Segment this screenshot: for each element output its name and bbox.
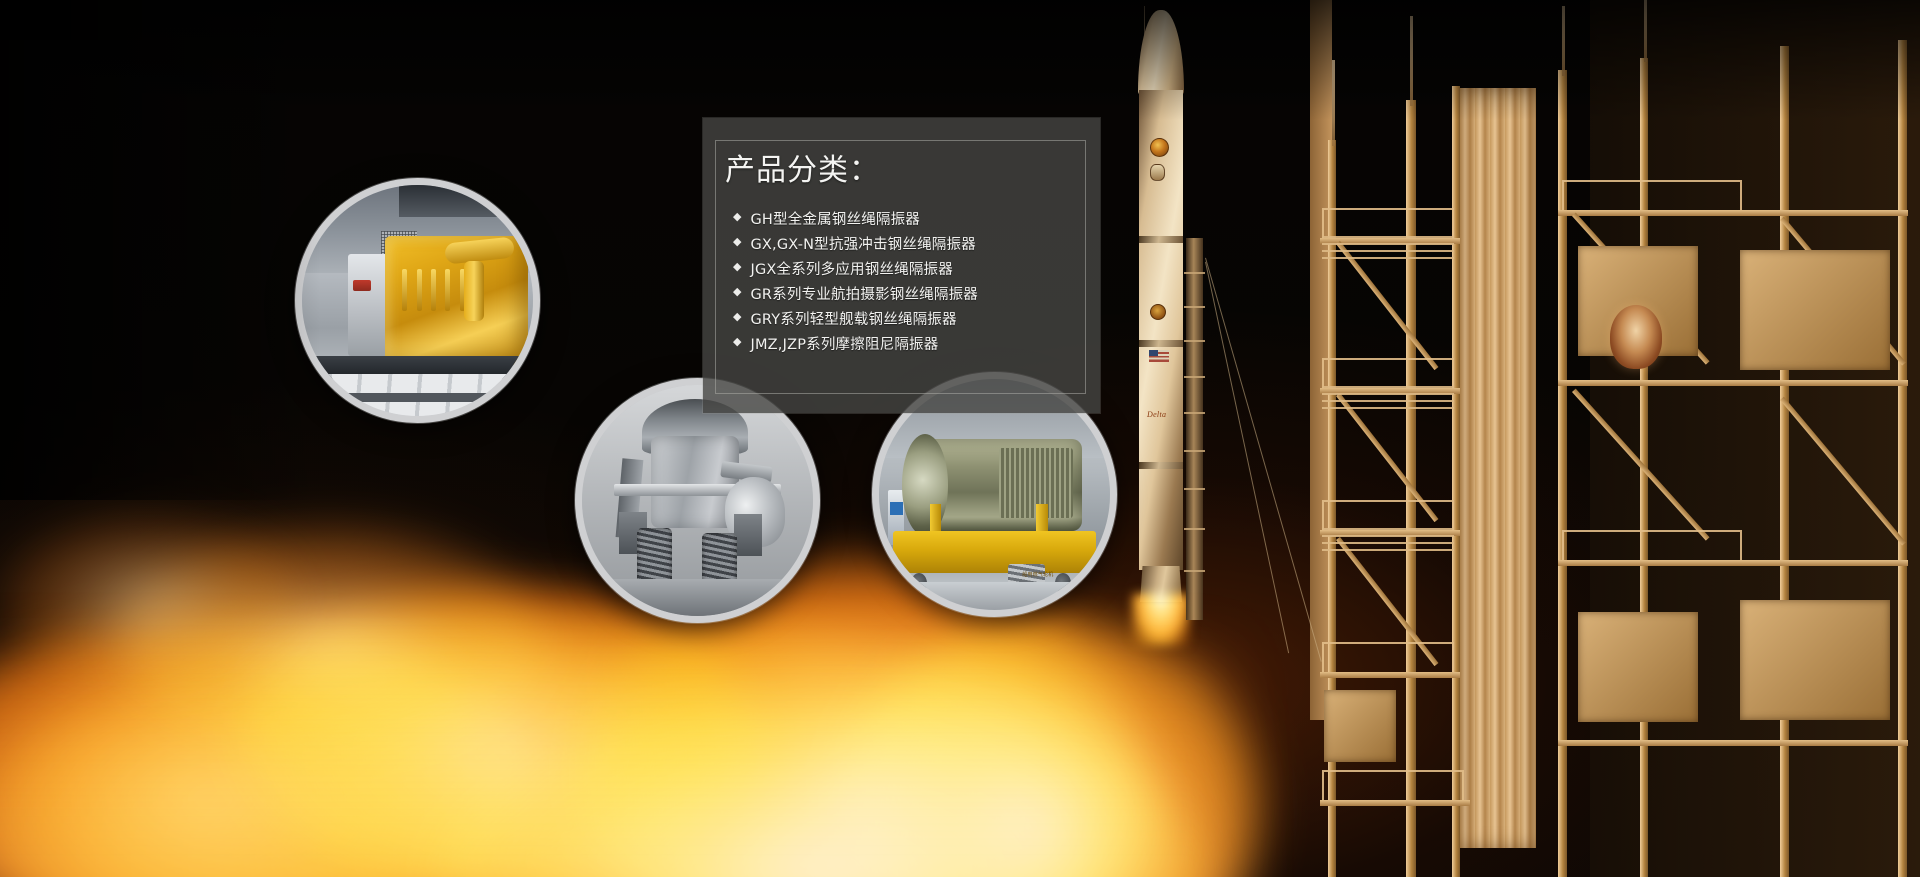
wire-rope-isolator-image (582, 385, 813, 616)
diamond-bullet-icon: ◆ (733, 287, 741, 298)
tower-column (1780, 46, 1789, 877)
rocket-nose-cone (1138, 10, 1184, 96)
panel-title: 产品分类： (725, 145, 880, 189)
rocket-band (1139, 462, 1183, 469)
list-item-label: JGX全系列多应用钢丝绳隔振器 (750, 258, 952, 279)
list-item-label: GRY系列轻型舰载钢丝绳隔振器 (750, 308, 956, 329)
tower-platform-railing (1322, 358, 1454, 388)
wire-rope-coil (637, 528, 672, 583)
umbilical-rung (1184, 450, 1205, 452)
isolator-right-foot (734, 514, 762, 556)
tower-mast (1410, 16, 1413, 106)
umbilical-rung (1184, 272, 1205, 274)
tower-platform-railing (1322, 642, 1454, 672)
tower-platform-railing (1562, 180, 1742, 210)
list-item-label: GR系列专业航拍摄影钢丝绳隔振器 (750, 283, 978, 304)
tower-platform-railing (1562, 530, 1742, 560)
tower-grating (1322, 386, 1454, 410)
tower-beam (1558, 740, 1908, 746)
tower-cladding-panel (1460, 88, 1536, 848)
engine-cylinder (417, 269, 422, 310)
product-category-list: ◆ GH型全金属钢丝绳隔振器 ◆ GX,GX-N型抗强冲击钢丝绳隔振器 ◆ JG… (733, 206, 1084, 356)
generator-room-ceiling (399, 185, 533, 217)
generator-floor-shadow (302, 393, 533, 402)
rocket-band (1139, 340, 1183, 347)
tower-mast (1332, 60, 1335, 146)
tower-grating (1322, 528, 1454, 552)
photo-circle-diesel-generator[interactable] (295, 178, 540, 423)
tower-platform-railing (1322, 500, 1454, 530)
list-item-label: GX,GX-N型抗强冲击钢丝绳隔振器 (750, 233, 975, 254)
tower-equipment-box (1324, 690, 1396, 762)
list-item[interactable]: ◆ GH型全金属钢丝绳隔振器 (733, 206, 1084, 231)
umbilical-rung (1184, 340, 1205, 342)
umbilical-rung (1184, 376, 1205, 378)
isolator-base-plate (600, 579, 794, 616)
list-item-label: GH型全金属钢丝绳隔振器 (750, 208, 920, 229)
engine-cylinder (445, 269, 450, 310)
tower-beam (1558, 380, 1908, 386)
diamond-bullet-icon: ◆ (733, 237, 741, 248)
engine-exhaust-riser (464, 261, 485, 321)
umbilical-rung (1184, 570, 1205, 572)
umbilical-rung (1184, 528, 1205, 530)
tower-column (1898, 40, 1907, 877)
tower-column (1452, 86, 1460, 877)
turbine-caption-label: 船用燃气轮机 (1022, 571, 1053, 578)
list-item[interactable]: ◆ GX,GX-N型抗强冲击钢丝绳隔振器 (733, 231, 1084, 256)
diesel-generator-image (302, 185, 533, 416)
tower-beam (1558, 210, 1908, 216)
tower-brace (1336, 241, 1438, 370)
rocket-agency-logo-icon (1150, 164, 1165, 181)
tower-platform-railing (1322, 208, 1454, 238)
photo-circle-wire-rope-isolator[interactable] (575, 378, 820, 623)
rocket-name-label: Delta (1147, 410, 1166, 419)
rocket-mission-patch-icon (1150, 304, 1166, 320)
tower-equipment-box (1578, 612, 1698, 722)
umbilical-mast (1186, 238, 1203, 620)
tower-beam (1320, 672, 1460, 678)
diamond-bullet-icon: ◆ (733, 212, 741, 223)
tower-logo-emblem (1610, 305, 1662, 369)
list-item[interactable]: ◆ JMZ,JZP系列摩擦阻尼隔振器 (733, 331, 1084, 356)
rocket-band (1139, 236, 1183, 243)
list-item[interactable]: ◆ GR系列专业航拍摄影钢丝绳隔振器 (733, 281, 1084, 306)
tower-beam (1558, 560, 1908, 566)
engine-cylinder (402, 269, 407, 310)
tower-beam (1320, 800, 1470, 806)
list-item[interactable]: ◆ JGX全系列多应用钢丝绳隔振器 (733, 256, 1084, 281)
tower-grating (1322, 236, 1454, 260)
umbilical-rung (1184, 488, 1205, 490)
rocket-mission-patch-icon (1150, 138, 1169, 157)
list-item[interactable]: ◆ GRY系列轻型舰载钢丝绳隔振器 (733, 306, 1084, 331)
turbine-floor (879, 582, 1110, 610)
tower-platform-railing (1322, 770, 1464, 800)
tower-mast (1644, 0, 1647, 62)
rocket-body (1139, 90, 1183, 570)
generator-red-component (353, 280, 371, 292)
tower-equipment-box (1740, 250, 1890, 370)
umbilical-rung (1184, 412, 1205, 414)
diamond-bullet-icon: ◆ (733, 337, 741, 348)
diamond-bullet-icon: ◆ (733, 312, 741, 323)
engine-cylinder (431, 269, 436, 310)
rocket-vehicle: Delta (1138, 10, 1184, 620)
gas-turbine-image: 船用燃气轮机 (879, 379, 1110, 610)
launch-gantry-tower (1310, 0, 1920, 877)
turbine-yellow-skid (893, 531, 1096, 573)
tower-equipment-box (1740, 600, 1890, 720)
list-item-label: JMZ,JZP系列摩擦阻尼隔振器 (750, 333, 938, 354)
diamond-bullet-icon: ◆ (733, 262, 741, 273)
umbilical-rung (1184, 306, 1205, 308)
rocket-exhaust-flame (1132, 594, 1190, 646)
banner-stage: Delta (0, 0, 1920, 877)
us-flag-icon (1149, 350, 1169, 362)
tower-mast (1562, 6, 1565, 76)
product-category-panel: 产品分类： ◆ GH型全金属钢丝绳隔振器 ◆ GX,GX-N型抗强冲击钢丝绳隔振… (703, 118, 1100, 413)
